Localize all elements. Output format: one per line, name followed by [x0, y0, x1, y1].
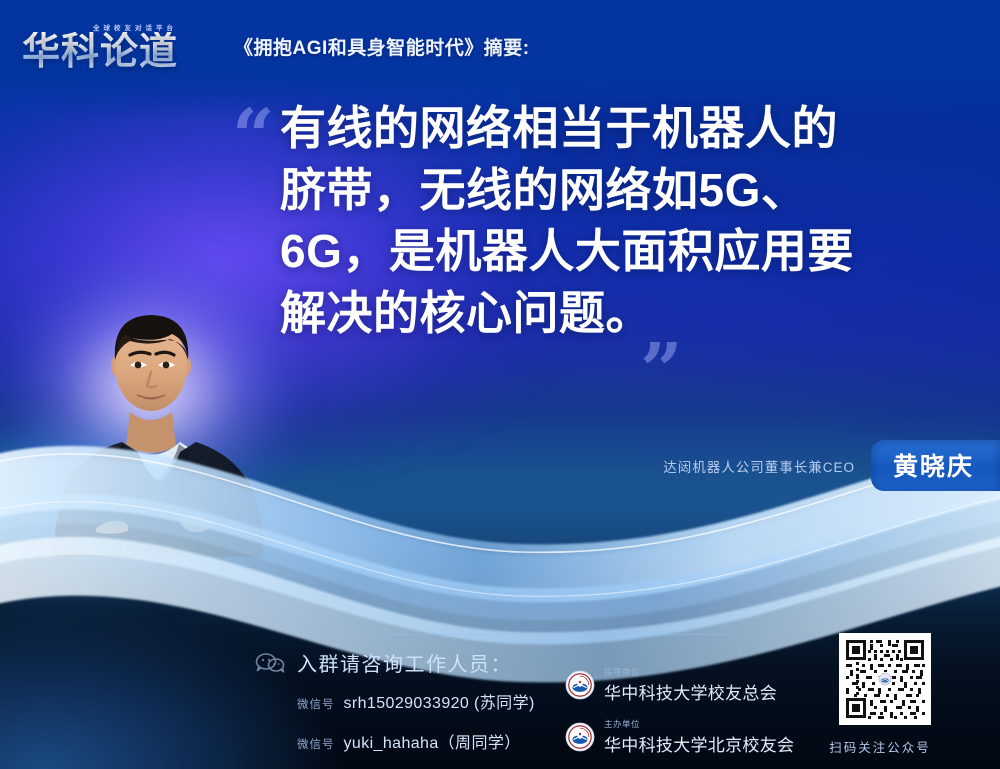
- footer-title: 入群请咨询工作人员：: [297, 648, 512, 677]
- quote-block: “ 有线的网络相当于机器人的 脐带，无线的网络如5G、 6G，是机器人大面积应用…: [232, 98, 952, 345]
- organization-item: 指导单位 华中科技大学校友总会: [565, 666, 794, 704]
- hust-seal-icon: [565, 670, 595, 700]
- hust-seal-icon: [565, 722, 595, 752]
- speaker-role: 达闼机器人公司董事长兼CEO: [663, 456, 855, 476]
- quote-line: 解决的核心问题。: [280, 283, 952, 345]
- logo-tagline: 全球校友对话平台: [58, 22, 212, 32]
- organization-name: 华中科技大学校友总会: [604, 679, 777, 704]
- qr-code-icon[interactable]: [839, 633, 931, 725]
- footer-divider: [290, 634, 790, 635]
- attribution: 达闼机器人公司董事长兼CEO 黄晓庆: [663, 440, 1000, 491]
- poster-header: 全球校友对话平台 华科论道 《拥抱AGI和具身智能时代》摘要:: [0, 0, 1000, 92]
- header-subtitle: 《拥抱AGI和具身智能时代》摘要:: [234, 33, 530, 60]
- logo-wordmark: 华科论道: [22, 32, 212, 70]
- qr-caption: 扫码关注公众号: [829, 737, 931, 756]
- brand-logo: 全球校友对话平台 华科论道: [22, 22, 212, 70]
- quote-line: 有线的网络相当于机器人的: [280, 98, 952, 160]
- poster-canvas: 全球校友对话平台 华科论道 《拥抱AGI和具身智能时代》摘要: “ 有线的网络相…: [0, 0, 1000, 769]
- quote-close-mark: ”: [640, 334, 683, 408]
- speaker-portrait: [38, 292, 263, 557]
- wechat-icon: [255, 653, 285, 673]
- quote-text: 有线的网络相当于机器人的 脐带，无线的网络如5G、 6G，是机器人大面积应用要 …: [280, 98, 952, 345]
- organization-name: 华中科技大学北京校友会: [604, 731, 794, 756]
- organization-list: 指导单位 华中科技大学校友总会 主办单位 华中科技大学北京校友会: [565, 666, 794, 769]
- wechat-label: 微信号: [297, 696, 335, 712]
- organization-kind: 主办单位: [604, 718, 794, 730]
- speaker-name-badge: 黄晓庆: [871, 440, 1000, 491]
- wechat-id[interactable]: yuki_hahaha（周同学）: [344, 729, 521, 753]
- quote-line: 脐带，无线的网络如5G、: [280, 160, 952, 222]
- wechat-label: 微信号: [297, 736, 335, 752]
- qr-block: 扫码关注公众号: [839, 633, 931, 756]
- organization-item: 主办单位 华中科技大学北京校友会: [565, 718, 794, 756]
- wechat-id[interactable]: srh15029033920 (苏同学): [344, 689, 535, 713]
- quote-line: 6G，是机器人大面积应用要: [280, 221, 952, 283]
- quote-open-mark: “: [232, 100, 275, 174]
- organization-kind: 指导单位: [604, 666, 777, 678]
